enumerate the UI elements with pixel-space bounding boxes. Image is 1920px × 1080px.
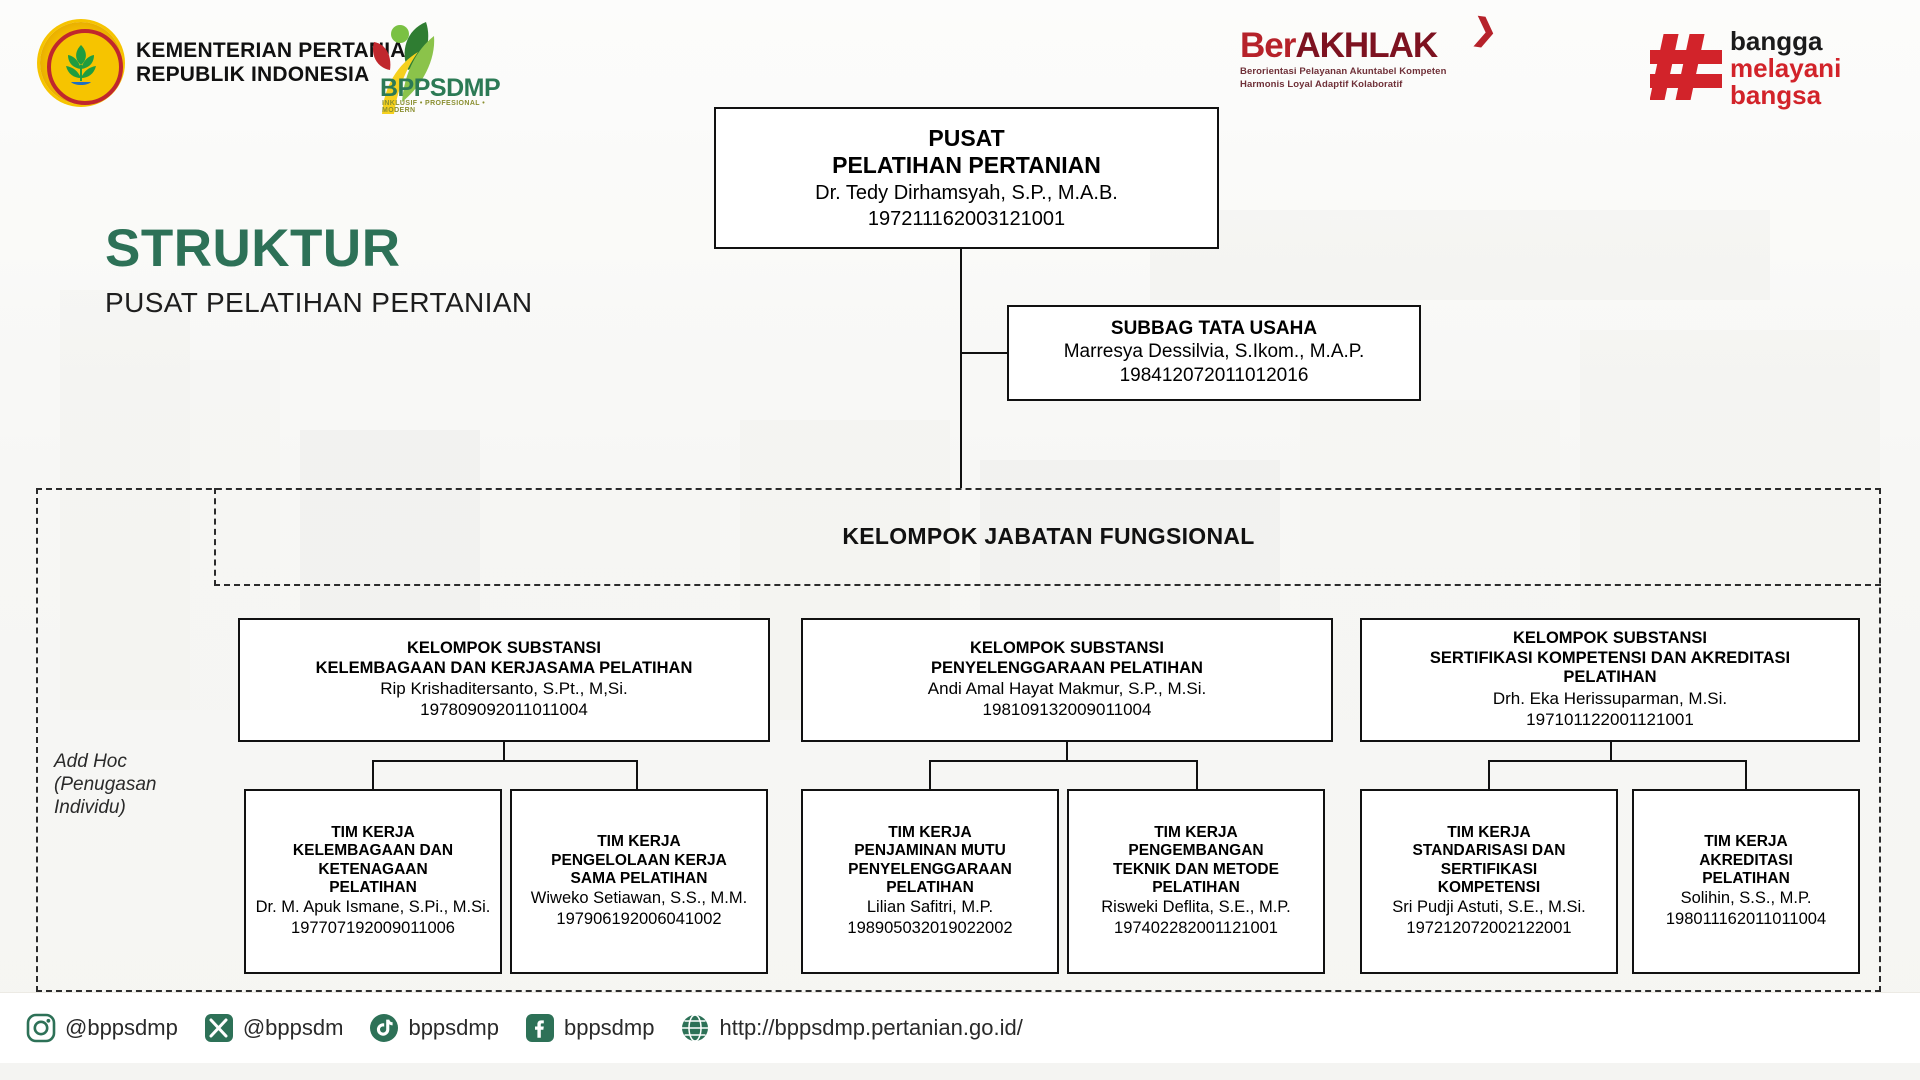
tk6-title-line2: AKREDITASI xyxy=(1699,852,1793,870)
tk1-title-line1: TIM KERJA xyxy=(331,824,415,842)
instagram-icon xyxy=(26,1013,56,1043)
page-title: STRUKTUR xyxy=(105,222,533,275)
bangga-line2: melayani xyxy=(1730,55,1841,81)
org-node-pusat-person: Dr. Tedy Dirhamsyah, S.P., M.A.B. xyxy=(815,181,1118,205)
org-node-tim-kerja-6[interactable]: TIM KERJA AKREDITASI PELATIHAN Solihin, … xyxy=(1632,789,1860,974)
tk5-title-line4: KOMPETENSI xyxy=(1438,879,1540,897)
footer-item-x[interactable]: @bppsdm xyxy=(204,1013,344,1043)
tk1-title-line4: PELATIHAN xyxy=(329,879,417,897)
tk6-title-line1: TIM KERJA xyxy=(1704,833,1788,851)
org-node-tim-kerja-1[interactable]: TIM KERJA KELEMBAGAAN DAN KETENAGAAN PEL… xyxy=(244,789,502,974)
ks1-nip: 197809092011011004 xyxy=(420,700,588,720)
org-node-pusat-nip: 197211162003121001 xyxy=(868,207,1065,231)
org-node-pusat[interactable]: PUSAT PELATIHAN PERTANIAN Dr. Tedy Dirha… xyxy=(714,107,1219,249)
berakhlak-wordmark: BerAKHLAK ❯ xyxy=(1240,28,1490,63)
tk3-title-line4: PELATIHAN xyxy=(886,879,974,897)
facebook-icon xyxy=(525,1013,555,1043)
ks3-title-line3: PELATIHAN xyxy=(1563,668,1656,687)
tk2-nip: 197906192006041002 xyxy=(556,910,721,930)
berakhlak-logo: BerAKHLAK ❯ Berorientasi Pelayanan Akunt… xyxy=(1240,28,1490,92)
org-node-kelompok-substansi-2[interactable]: KELOMPOK SUBSTANSI PENYELENGGARAAN PELAT… xyxy=(801,618,1333,742)
tk4-person: Risweki Deflita, S.E., M.P. xyxy=(1101,898,1291,918)
bangga-melayani-bangsa-logo: bangga melayani bangsa xyxy=(1650,20,1860,112)
berakhlak-tagline-line2: Harmonis Loyal Adaptif Kolaboratif xyxy=(1240,79,1490,92)
tk1-person: Dr. M. Apuk Ismane, S.Pi., M.Si. xyxy=(256,898,491,918)
tk2-title-line2: PENGELOLAAN KERJA xyxy=(551,852,727,870)
bangga-line1: bangga xyxy=(1730,28,1822,54)
org-node-tim-kerja-5[interactable]: TIM KERJA STANDARISASI DAN SERTIFIKASI K… xyxy=(1360,789,1618,974)
tk4-title-line1: TIM KERJA xyxy=(1154,824,1238,842)
tk1-title-line3: KETENAGAAN xyxy=(318,861,427,879)
ks3-title-line2: SERTIFIKASI KOMPETENSI DAN AKREDITASI xyxy=(1430,649,1790,668)
org-node-subbag-tata-usaha[interactable]: SUBBAG TATA USAHA Marresya Dessilvia, S.… xyxy=(1007,305,1421,401)
connector-root-vertical xyxy=(960,249,962,353)
tk2-title-line1: TIM KERJA xyxy=(597,833,681,851)
tk5-title-line1: TIM KERJA xyxy=(1447,824,1531,842)
org-node-subbag-nip: 198412072011012016 xyxy=(1120,365,1309,388)
page-subtitle: PUSAT PELATIHAN PERTANIAN xyxy=(105,287,533,319)
ks3-person: Drh. Eka Herissuparman, M.Si. xyxy=(1493,689,1727,709)
adhoc-label-line3: Individu) xyxy=(54,796,214,819)
bppsdmp-wordmark: BPPSDMP xyxy=(380,74,500,103)
footer-item-facebook[interactable]: bppsdmp xyxy=(525,1013,655,1043)
ks3-title-line1: KELOMPOK SUBSTANSI xyxy=(1513,629,1707,648)
ks2-nip: 198109132009011004 xyxy=(983,700,1152,720)
berakhlak-main: AKHLAK xyxy=(1295,26,1437,65)
bppsdmp-tagline: INKLUSIF • PROFESIONAL • MODERN xyxy=(382,100,500,114)
footer-item-instagram[interactable]: @bppsdmp xyxy=(26,1013,178,1043)
berakhlak-tagline: Berorientasi Pelayanan Akuntabel Kompete… xyxy=(1240,66,1490,92)
tk5-person: Sri Pudji Astuti, S.E., M.Si. xyxy=(1392,898,1585,918)
connector-root-to-group xyxy=(960,352,962,488)
bppsdmp-logo: BPPSDMP INKLUSIF • PROFESIONAL • MODERN xyxy=(360,16,500,116)
ks1-title-line1: KELOMPOK SUBSTANSI xyxy=(407,639,601,658)
org-node-tim-kerja-4[interactable]: TIM KERJA PENGEMBANGAN TEKNIK DAN METODE… xyxy=(1067,789,1325,974)
connector-root-to-subbag xyxy=(960,352,1008,354)
berakhlak-prefix: Ber xyxy=(1240,26,1295,65)
tk3-title-line2: PENJAMINAN MUTU xyxy=(854,842,1006,860)
footer-label-facebook: bppsdmp xyxy=(564,1015,655,1041)
footer-item-tiktok[interactable]: bppsdmp xyxy=(369,1013,499,1043)
kementan-seal-icon xyxy=(40,22,122,104)
footer-label-website: http://bppsdmp.pertanian.go.id/ xyxy=(719,1015,1022,1041)
tk2-person: Wiweko Setiawan, S.S., M.M. xyxy=(531,889,747,909)
tk3-person: Lilian Safitri, M.P. xyxy=(867,898,993,918)
tk4-title-line4: PELATIHAN xyxy=(1152,879,1240,897)
tk1-nip: 197707192009011006 xyxy=(291,919,455,939)
org-node-subbag-person: Marresya Dessilvia, S.Ikom., M.A.P. xyxy=(1064,341,1365,364)
org-node-subbag-title: SUBBAG TATA USAHA xyxy=(1111,318,1317,340)
tk1-title-line2: KELEMBAGAAN DAN xyxy=(293,842,453,860)
footer-label-x: @bppsdm xyxy=(243,1015,344,1041)
tiktok-icon xyxy=(369,1013,399,1043)
ks3-nip: 197101122001121001 xyxy=(1526,710,1694,730)
tk3-title-line1: TIM KERJA xyxy=(888,824,972,842)
ks2-person: Andi Amal Hayat Makmur, S.P., M.Si. xyxy=(928,679,1206,699)
tk5-title-line3: SERTIFIKASI xyxy=(1441,861,1537,879)
ks2-title-line2: PENYELENGGARAAN PELATIHAN xyxy=(931,659,1203,678)
footer-bar: @bppsdmp @bppsdm bppsdmp bppsdmp xyxy=(0,992,1920,1063)
rice-plant-icon xyxy=(61,41,101,87)
ks1-person: Rip Krishaditersanto, S.Pt., M,Si. xyxy=(380,679,628,699)
adhoc-label-line1: Add Hoc xyxy=(54,750,214,773)
functional-group-header: KELOMPOK JABATAN FUNGSIONAL xyxy=(214,488,1881,586)
globe-icon xyxy=(680,1013,710,1043)
ks2-title-line1: KELOMPOK SUBSTANSI xyxy=(970,639,1164,658)
berakhlak-tagline-line1: Berorientasi Pelayanan Akuntabel Kompete… xyxy=(1240,66,1490,79)
tk5-title-line2: STANDARISASI DAN xyxy=(1413,842,1566,860)
tk5-nip: 197212072002122001 xyxy=(1406,919,1571,939)
functional-group-header-label: KELOMPOK JABATAN FUNGSIONAL xyxy=(842,523,1254,550)
tk3-title-line3: PENYELENGGARAAN xyxy=(848,861,1012,879)
org-node-tim-kerja-2[interactable]: TIM KERJA PENGELOLAAN KERJA SAMA PELATIH… xyxy=(510,789,768,974)
tk4-title-line2: PENGEMBANGAN xyxy=(1128,842,1263,860)
footer-item-website[interactable]: http://bppsdmp.pertanian.go.id/ xyxy=(680,1013,1022,1043)
org-node-pusat-title-line1: PUSAT xyxy=(928,125,1004,152)
chevron-right-icon: ❯ xyxy=(1470,14,1498,47)
org-node-kelompok-substansi-3[interactable]: KELOMPOK SUBSTANSI SERTIFIKASI KOMPETENS… xyxy=(1360,618,1860,742)
org-node-kelompok-substansi-1[interactable]: KELOMPOK SUBSTANSI KELEMBAGAAN DAN KERJA… xyxy=(238,618,770,742)
footer-label-instagram: @bppsdmp xyxy=(65,1015,178,1041)
tk4-nip: 197402282001121001 xyxy=(1114,919,1278,939)
tk4-title-line3: TEKNIK DAN METODE xyxy=(1113,861,1279,879)
adhoc-label: Add Hoc (Penugasan Individu) xyxy=(54,750,214,820)
hashtag-icon xyxy=(1650,32,1722,102)
page-title-block: STRUKTUR PUSAT PELATIHAN PERTANIAN xyxy=(105,222,533,319)
x-twitter-icon xyxy=(204,1013,234,1043)
adhoc-label-line2: (Penugasan xyxy=(54,773,214,796)
org-node-tim-kerja-3[interactable]: TIM KERJA PENJAMINAN MUTU PENYELENGGARAA… xyxy=(801,789,1059,974)
footer-gradient-strip xyxy=(0,1062,1920,1080)
ks1-title-line2: KELEMBAGAAN DAN KERJASAMA PELATIHAN xyxy=(316,659,693,678)
org-node-pusat-title-line2: PELATIHAN PERTANIAN xyxy=(832,152,1101,179)
tk6-person: Solihin, S.S., M.P. xyxy=(1681,889,1812,909)
bangga-line3: bangsa xyxy=(1730,82,1821,108)
tk2-title-line3: SAMA PELATIHAN xyxy=(571,870,708,888)
tk6-title-line3: PELATIHAN xyxy=(1702,870,1790,888)
tk3-nip: 198905032019022002 xyxy=(847,919,1012,939)
tk6-nip: 198011162011011004 xyxy=(1666,910,1826,930)
footer-label-tiktok: bppsdmp xyxy=(408,1015,499,1041)
